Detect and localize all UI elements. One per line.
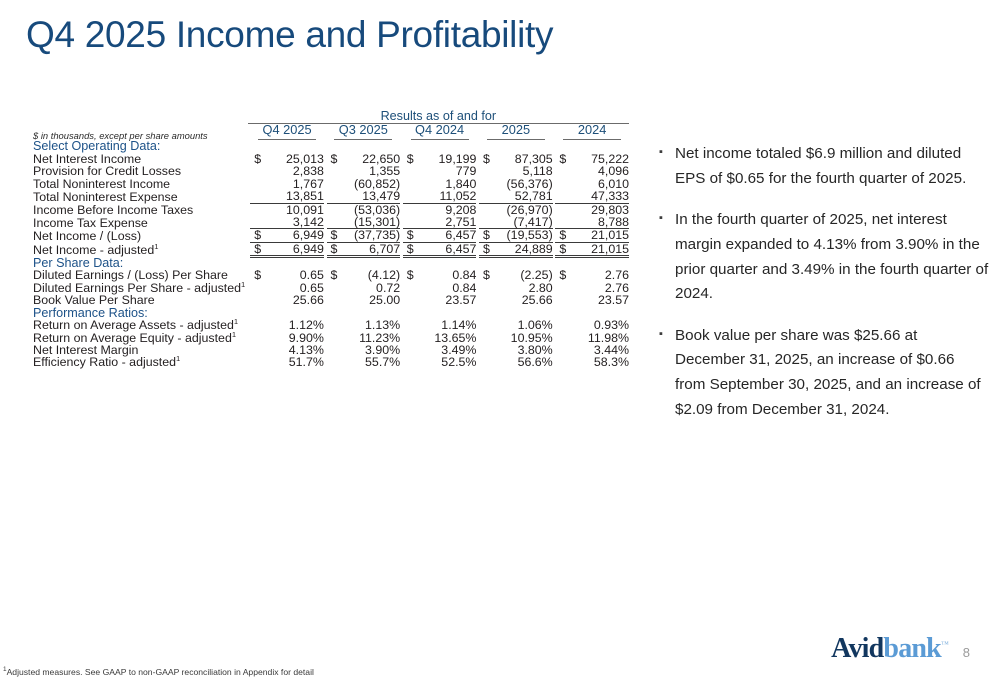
currency-symbol: $ <box>331 243 338 255</box>
square-bullet-icon: ▪ <box>659 142 675 191</box>
table-cell: $6,949 <box>250 242 324 256</box>
table-cell: 8,788 <box>555 216 629 229</box>
row-label: Book Value Per Share <box>33 294 248 306</box>
currency-symbol: $ <box>407 229 414 241</box>
row-footnote-marker: 1 <box>176 354 180 363</box>
currency-symbol: $ <box>559 229 566 241</box>
table-cell: $(2.25) <box>479 269 553 281</box>
square-bullet-icon: ▪ <box>659 208 675 307</box>
commentary-list: ▪Net income totaled $6.9 million and dil… <box>659 142 989 439</box>
table-cell: 11,052 <box>403 190 477 203</box>
table-cell: $6,457 <box>403 242 477 256</box>
commentary-text: Book value per share was $25.66 at Decem… <box>675 324 989 423</box>
row-label: Efficiency Ratio - adjusted1 <box>33 356 248 368</box>
table-cell: $21,015 <box>555 242 629 256</box>
table-cell: $2.76 <box>555 269 629 281</box>
commentary-text: In the fourth quarter of 2025, net inter… <box>675 208 989 307</box>
column-header-2: Q3 2025 <box>327 123 401 140</box>
commentary-text: Net income totaled $6.9 million and dilu… <box>675 142 989 191</box>
table-cell: 51.7% <box>250 356 324 368</box>
table-cell: 25.66 <box>250 294 324 306</box>
table-cell: 52,781 <box>479 190 553 203</box>
financial-table: Results as of and for$ in thousands, exc… <box>33 110 629 369</box>
table-cell: 0.93% <box>555 319 629 331</box>
table-cell: (7,417) <box>479 216 553 229</box>
table-cell: $6,949 <box>250 229 324 242</box>
column-header-5: 2024 <box>555 123 629 140</box>
table-row: Book Value Per Share25.6625.0023.5725.66… <box>33 294 629 306</box>
column-header-1: Q4 2025 <box>250 123 324 140</box>
table-cell: 23.57 <box>403 294 477 306</box>
table-cell: $(4.12) <box>327 269 401 281</box>
commentary-item: ▪In the fourth quarter of 2025, net inte… <box>659 208 989 307</box>
currency-symbol: $ <box>407 243 414 255</box>
row-label: Provision for Credit Losses <box>33 165 248 177</box>
table-cell: 25.00 <box>327 294 401 306</box>
table-cell: 1,355 <box>327 165 401 177</box>
currency-symbol: $ <box>407 269 414 281</box>
currency-symbol: $ <box>331 153 338 165</box>
table-cell: 1.14% <box>403 319 477 331</box>
table-column-header-row: $ in thousands, except per share amounts… <box>33 123 629 140</box>
table-row: Total Noninterest Expense13,85113,47911,… <box>33 190 629 203</box>
table-row: Income Tax Expense3,142(15,301)2,751(7,4… <box>33 216 629 229</box>
square-bullet-icon: ▪ <box>659 324 675 423</box>
row-label: Income Tax Expense <box>33 216 248 229</box>
currency-symbol: $ <box>483 229 490 241</box>
table-cell: 13,851 <box>250 190 324 203</box>
table-cell: 13,479 <box>327 190 401 203</box>
table-cell: $(37,735) <box>327 229 401 242</box>
table-cell: 3,142 <box>250 216 324 229</box>
table-cell: 52.5% <box>403 356 477 368</box>
financial-table-container: Results as of and for$ in thousands, exc… <box>33 110 629 369</box>
row-footnote-marker: 1 <box>241 280 245 289</box>
table-cell: 23.57 <box>555 294 629 306</box>
table-row: Net Income / (Loss)$6,949$(37,735)$6,457… <box>33 229 629 242</box>
table-cell: 779 <box>403 165 477 177</box>
table-cell: 25.66 <box>479 294 553 306</box>
page-title: Q4 2025 Income and Profitability <box>26 14 553 56</box>
footnote-text: Adjusted measures. See GAAP to non-GAAP … <box>7 667 314 677</box>
row-label: Diluted Earnings / (Loss) Per Share <box>33 269 248 281</box>
table-cell: $6,707 <box>327 242 401 256</box>
column-header-3: Q4 2024 <box>403 123 477 140</box>
page-number: 8 <box>963 645 970 660</box>
avidbank-logo: Avidbank™ <box>831 633 948 665</box>
row-footnote-marker: 1 <box>154 242 158 251</box>
commentary-item: ▪Book value per share was $25.66 at Dece… <box>659 324 989 423</box>
table-cell: $0.65 <box>250 269 324 281</box>
footnote: 1Adjusted measures. See GAAP to non-GAAP… <box>3 667 314 677</box>
currency-symbol: $ <box>483 269 490 281</box>
logo-avid-text: Avid <box>831 633 883 664</box>
table-cell: $21,015 <box>555 229 629 242</box>
table-cell: 47,333 <box>555 190 629 203</box>
currency-symbol: $ <box>559 243 566 255</box>
currency-symbol: $ <box>407 153 414 165</box>
table-cell: $0.84 <box>403 269 477 281</box>
table-cell: 1.12% <box>250 319 324 331</box>
row-label: Net Income - adjusted1 <box>33 242 248 256</box>
table-cell: $24,889 <box>479 242 553 256</box>
currency-symbol: $ <box>254 229 261 241</box>
table-cell: $6,457 <box>403 229 477 242</box>
commentary-item: ▪Net income totaled $6.9 million and dil… <box>659 142 989 191</box>
table-cell: 2,838 <box>250 165 324 177</box>
table-cell: 58.3% <box>555 356 629 368</box>
table-row: Diluted Earnings / (Loss) Per Share$0.65… <box>33 269 629 281</box>
logo-trademark-icon: ™ <box>941 640 948 649</box>
currency-symbol: $ <box>331 269 338 281</box>
table-cell: $(19,553) <box>479 229 553 242</box>
table-cell: 1.13% <box>327 319 401 331</box>
table-cell: 1.06% <box>479 319 553 331</box>
logo-bank-text: bank <box>883 633 941 664</box>
currency-symbol: $ <box>559 269 566 281</box>
units-note: $ in thousands, except per share amounts <box>33 123 248 140</box>
table-cell: 55.7% <box>327 356 401 368</box>
column-header-4: 2025 <box>479 123 553 140</box>
row-label: Net Income / (Loss) <box>33 229 248 242</box>
table-cell: 4,096 <box>555 165 629 177</box>
table-cell: 2,751 <box>403 216 477 229</box>
row-footnote-marker: 1 <box>232 329 236 338</box>
currency-symbol: $ <box>254 269 261 281</box>
row-label: Income Before Income Taxes <box>33 203 248 216</box>
row-label: Return on Average Assets - adjusted1 <box>33 319 248 331</box>
table-cell: 5,118 <box>479 165 553 177</box>
row-label: Total Noninterest Income <box>33 178 248 190</box>
currency-symbol: $ <box>331 229 338 241</box>
currency-symbol: $ <box>483 153 490 165</box>
currency-symbol: $ <box>559 153 566 165</box>
currency-symbol: $ <box>483 243 490 255</box>
table-cell: 56.6% <box>479 356 553 368</box>
group-header-spacer <box>33 110 248 123</box>
table-row: Provision for Credit Losses2,8381,355779… <box>33 165 629 177</box>
table-row: Net Income - adjusted1$6,949$6,707$6,457… <box>33 242 629 256</box>
row-footnote-marker: 1 <box>234 317 238 326</box>
table-cell: (15,301) <box>327 216 401 229</box>
table-row: Efficiency Ratio - adjusted151.7%55.7%52… <box>33 356 629 368</box>
row-label: Total Noninterest Expense <box>33 190 248 203</box>
table-group-header-row: Results as of and for <box>33 110 629 123</box>
currency-symbol: $ <box>254 243 261 255</box>
table-row: Return on Average Assets - adjusted11.12… <box>33 319 629 331</box>
currency-symbol: $ <box>254 153 261 165</box>
